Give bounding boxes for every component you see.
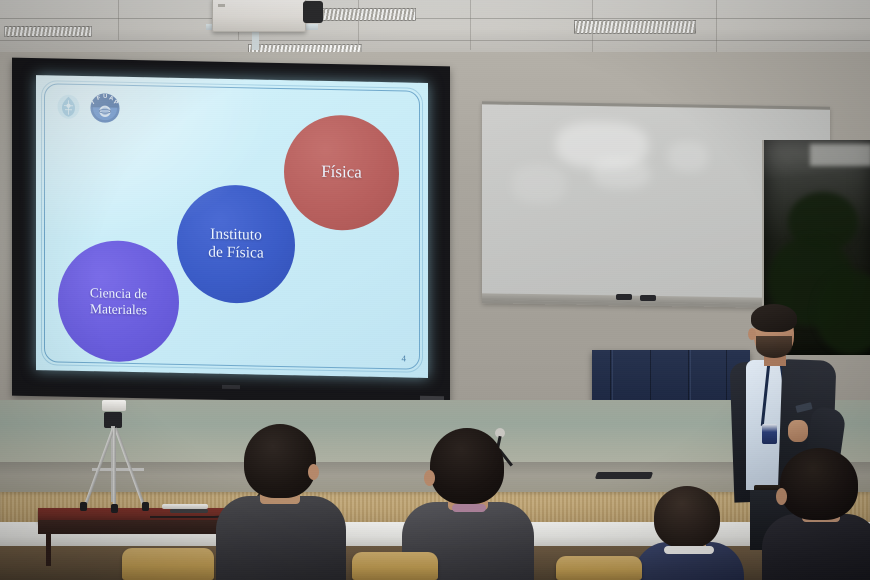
audience-member-1-hair xyxy=(244,424,316,498)
slide-page-number: 4 xyxy=(402,353,407,363)
bubble-instituto-line1: Instituto xyxy=(210,225,262,243)
lecture-hall-photo: I F U A P Ciencia de Materiales xyxy=(0,0,870,580)
audience-member-4-torso xyxy=(762,514,870,580)
bubble-instituto-line2: de Física xyxy=(208,244,264,262)
projected-slide: I F U A P Ciencia de Materiales xyxy=(36,75,428,378)
camera-tripod xyxy=(78,398,158,510)
audience-member-3 xyxy=(634,486,744,580)
presenter-ear xyxy=(748,328,756,340)
projector-lens xyxy=(303,1,323,23)
laptop-on-stage xyxy=(595,472,653,479)
audience-member-1-ear xyxy=(308,464,319,480)
institute-badge-logo: I F U A P xyxy=(86,88,124,127)
audience-member-2-collar xyxy=(452,504,486,512)
chair-left xyxy=(122,548,214,580)
presenter-beard xyxy=(756,336,792,358)
audience-member-1 xyxy=(216,424,346,580)
audience-member-4 xyxy=(762,448,870,580)
bubble-ciencia-line1: Ciencia de xyxy=(90,285,147,301)
audience-member-3-hair xyxy=(654,486,720,548)
tripod-foot-center xyxy=(111,504,118,513)
audience-member-4-hair xyxy=(780,448,858,520)
svg-text:U: U xyxy=(103,94,107,100)
tripod-leg-center xyxy=(113,428,116,512)
ceiling-vent-right xyxy=(574,20,696,34)
bubble-fisica: Física xyxy=(284,114,399,231)
audience-member-2-hair xyxy=(430,428,504,504)
audience-member-3-collar xyxy=(664,546,714,554)
chair-right xyxy=(556,556,642,580)
projection-screen: I F U A P Ciencia de Materiales xyxy=(12,58,450,405)
audience-member-4-ear xyxy=(776,488,787,505)
chair-center xyxy=(352,552,438,580)
window-reflection-highlight xyxy=(810,144,870,166)
presenter-hand xyxy=(788,420,808,442)
audience-member-2-ear xyxy=(424,470,435,486)
table-leg-left xyxy=(46,532,51,566)
presenter-hair xyxy=(751,304,797,332)
ceiling-vent-left xyxy=(4,26,92,37)
video-camera xyxy=(102,400,126,411)
audience-member-1-torso xyxy=(216,496,346,580)
presenter-badge xyxy=(762,424,777,444)
tripod-foot-left xyxy=(80,502,87,511)
bubble-instituto-de-fisica: Instituto de Física xyxy=(177,184,295,304)
institution-crest-logo xyxy=(56,93,81,121)
screen-frame-clip xyxy=(222,385,240,389)
ceiling-projector xyxy=(212,0,306,32)
bubble-ciencia-de-materiales: Ciencia de Materiales xyxy=(58,240,179,363)
whiteboard-marker-2 xyxy=(640,295,656,301)
whiteboard-marker-1 xyxy=(616,294,632,300)
bubble-fisica-line1: Física xyxy=(321,162,362,183)
tripod-foot-right xyxy=(142,502,149,511)
projector-label xyxy=(218,4,225,7)
bubble-ciencia-line2: Materiales xyxy=(90,301,147,317)
